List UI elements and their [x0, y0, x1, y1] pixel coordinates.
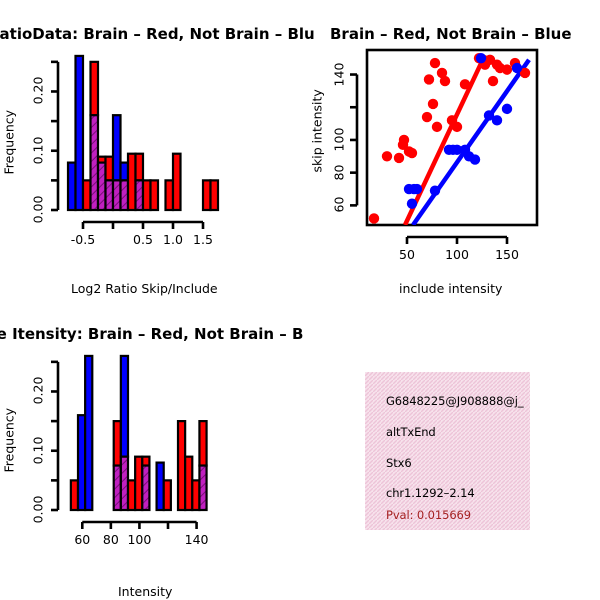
ratio-histogram-ylabel: Frequency	[2, 115, 17, 175]
hist_intensity-ytick: 0.10	[31, 432, 46, 468]
intensity-histogram-ylabel: Frequency	[2, 413, 17, 473]
infobox-line-gene: Stx6	[386, 456, 412, 470]
scatter-xtick: 150	[491, 247, 523, 262]
hist_intensity-ytick: 0.00	[31, 492, 46, 528]
hist_intensity-xtick: 80	[97, 532, 125, 547]
panel-intensity-histogram: ne Itensity: Brain – Red, Not Brain – B …	[0, 300, 300, 600]
hist_ratio-ytick: 0.20	[31, 73, 46, 109]
scatter-xtick: 100	[441, 247, 473, 262]
hist_ratio-xtick: 1.5	[189, 232, 217, 247]
infobox-line-pval: Pval: 0.015669	[386, 508, 471, 522]
infobox-line-locus: chr1.1292–2.14	[386, 486, 475, 500]
scatter-ytick: 80	[332, 156, 347, 188]
scatter-ytick: 60	[332, 189, 347, 221]
scatter-ytick: 100	[332, 123, 347, 155]
scatter-ytick: 140	[332, 58, 347, 90]
hist_intensity-xtick: 100	[125, 532, 153, 547]
hist_intensity-xtick: 60	[68, 532, 96, 547]
panel-intensity-scatter: Brain – Red, Not Brain – Blue include in…	[300, 0, 600, 300]
hist_intensity-xtick: 140	[183, 532, 211, 547]
hist_ratio-ytick: 0.10	[31, 132, 46, 168]
infobox-line-id: G6848225@J908888@j_	[386, 394, 523, 408]
scatter-xlabel: include intensity	[399, 281, 502, 296]
ratio-histogram-xlabel: Log2 Ratio Skip/Include	[71, 281, 218, 296]
intensity-histogram-xlabel: Intensity	[118, 584, 172, 599]
hist_ratio-xtick: 1.0	[159, 232, 187, 247]
panel-ratio-histogram: RatioData: Brain – Red, Not Brain – Blu …	[0, 0, 300, 300]
infobox-line-event-type: altTxEnd	[386, 425, 436, 439]
scatter-xtick: 50	[391, 247, 423, 262]
hist_ratio-xtick: -0.5	[69, 232, 97, 247]
event-info-box: G6848225@J908888@j_ altTxEnd Stx6 chr1.1…	[365, 372, 530, 530]
hist_ratio-xtick: 0.5	[129, 232, 157, 247]
hist_intensity-ytick: 0.20	[31, 373, 46, 409]
scatter-ylabel: skip intensity	[310, 103, 325, 173]
hist_ratio-ytick: 0.00	[31, 192, 46, 228]
